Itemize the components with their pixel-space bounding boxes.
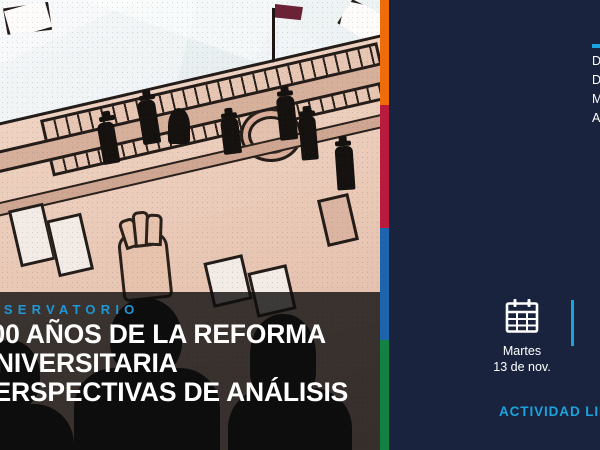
speaker-item: Dra. xyxy=(592,71,600,90)
meta-divider xyxy=(571,300,574,346)
stripe-blue xyxy=(380,228,389,340)
event-time-block: 18:3 xyxy=(586,298,600,359)
speaker-item: Dr. xyxy=(592,52,600,71)
headline-line-1: 100 AÑOS DE LA REFORMA xyxy=(0,320,396,349)
stripe-green xyxy=(380,340,389,450)
event-day-month: 13 de nov. xyxy=(493,359,550,375)
speaker-item: Mg. xyxy=(592,90,600,109)
poster-text-block: OBSERVATORIO 100 AÑOS DE LA REFORMA UNIV… xyxy=(0,292,380,450)
event-date-label: Martes 13 de nov. xyxy=(493,343,550,375)
headline-line-2: UNIVERSITARIA xyxy=(0,349,396,378)
info-panel: Dr. Dra. Mg. Al. xyxy=(389,0,600,450)
poster-screenshot: OBSERVATORIO 100 AÑOS DE LA REFORMA UNIV… xyxy=(0,0,600,450)
stripe-orange xyxy=(380,0,389,105)
accent-rule-divider xyxy=(592,44,600,48)
event-weekday: Martes xyxy=(493,343,550,359)
free-activity-note: ACTIVIDAD LIBRE xyxy=(499,404,600,419)
event-meta-row: Martes 13 de nov. 18:3 xyxy=(485,298,600,386)
accent-color-stripe xyxy=(380,0,389,450)
calendar-icon xyxy=(502,298,542,336)
headline-line-3: PERSPECTIVAS DE ANÁLISIS xyxy=(0,378,396,407)
poster-eyebrow: OBSERVATORIO xyxy=(0,302,139,317)
speakers-list: Dr. Dra. Mg. Al. xyxy=(592,52,600,128)
event-date-block: Martes 13 de nov. xyxy=(485,298,559,375)
poster-headline: 100 AÑOS DE LA REFORMA UNIVERSITARIA PER… xyxy=(0,320,396,407)
stripe-crimson xyxy=(380,105,389,228)
speaker-item: Al. xyxy=(592,109,600,128)
